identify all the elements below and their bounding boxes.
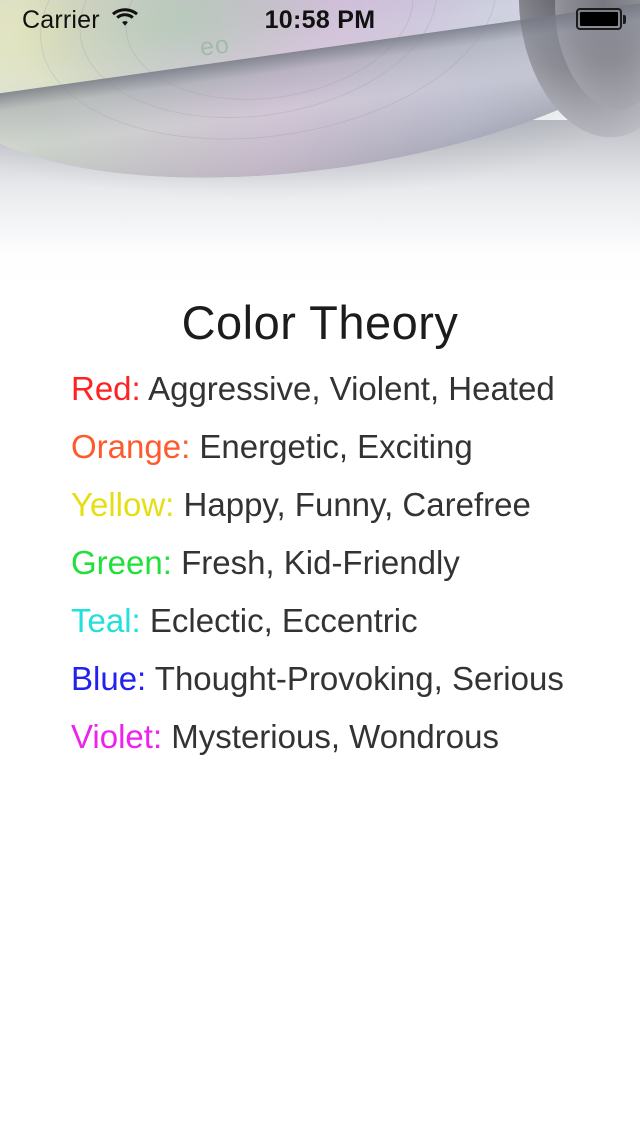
color-description: Fresh, Kid-Friendly [181,544,460,581]
color-row: Green: Fresh, Kid-Friendly [71,546,611,579]
color-description: Thought-Provoking, Serious [155,660,564,697]
color-name-label: Green: [71,544,172,581]
color-row: Yellow: Happy, Funny, Carefree [71,488,611,521]
color-description: Aggressive, Violent, Heated [148,370,555,407]
status-bar-time: 10:58 PM [0,6,640,35]
color-description: Energetic, Exciting [199,428,472,465]
color-name-label: Blue: [71,660,146,697]
color-row: Violet: Mysterious, Wondrous [71,720,611,753]
color-description: Mysterious, Wondrous [171,718,499,755]
battery-body [576,8,622,30]
color-name-label: Violet: [71,718,162,755]
page-title: Color Theory [0,296,640,350]
color-description: Happy, Funny, Carefree [184,486,531,523]
color-row: Red: Aggressive, Violent, Heated [71,372,611,405]
main-content: Color Theory Red: Aggressive, Violent, H… [0,0,640,1136]
color-row: Orange: Energetic, Exciting [71,430,611,463]
color-theory-list: Red: Aggressive, Violent, HeatedOrange: … [71,372,611,778]
color-name-label: Teal: [71,602,141,639]
color-name-label: Yellow: [71,486,174,523]
color-row: Teal: Eclectic, Eccentric [71,604,611,637]
status-bar: Carrier 10:58 PM [0,0,640,40]
battery-tip [623,15,626,24]
color-name-label: Orange: [71,428,190,465]
battery-fill [580,12,618,26]
color-description: Eclectic, Eccentric [150,602,418,639]
battery-indicator [576,8,626,30]
app-screen: eo Carrier 10:58 PM Color Theory Red: Ag [0,0,640,1136]
color-row: Blue: Thought-Provoking, Serious [71,662,611,695]
color-name-label: Red: [71,370,141,407]
